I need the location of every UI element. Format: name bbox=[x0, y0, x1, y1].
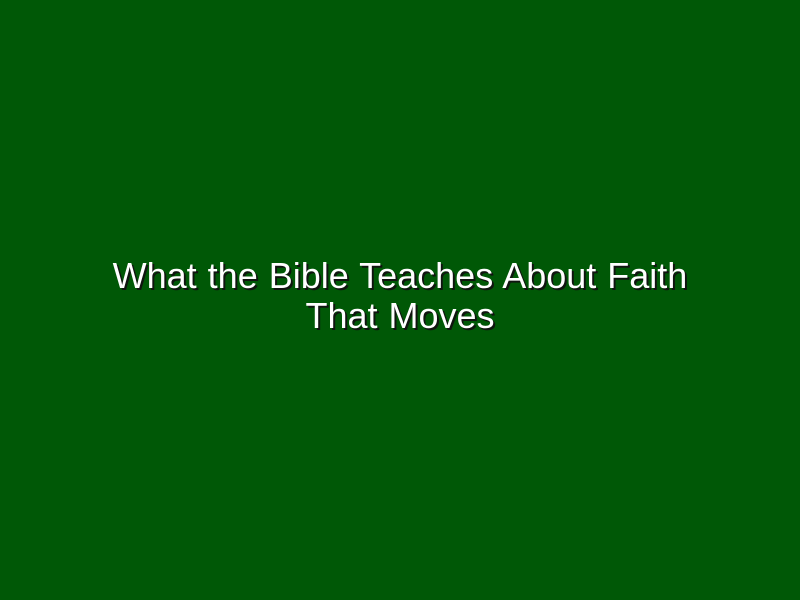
title-card: What the Bible Teaches About Faith That … bbox=[0, 0, 800, 600]
page-title: What the Bible Teaches About Faith That … bbox=[90, 256, 710, 336]
title-block: What the Bible Teaches About Faith That … bbox=[90, 256, 710, 336]
